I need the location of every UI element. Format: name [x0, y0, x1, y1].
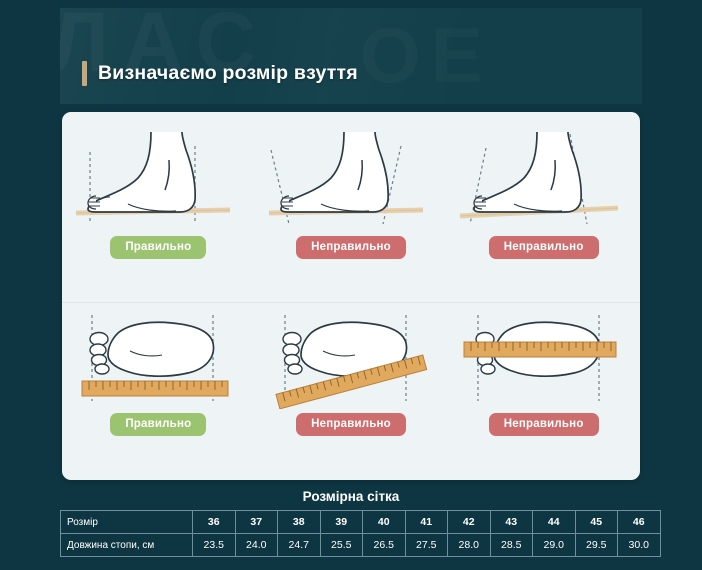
size-table: Розмір 36 37 38 39 40 41 42 43 44 45 46 … [60, 510, 661, 557]
status-badge-incorrect: Неправильно [296, 236, 406, 259]
foot-side-tilted-ruler-icon [454, 124, 634, 232]
sole-ruler-tilted-icon [261, 309, 441, 409]
status-badge-correct: Правильно [110, 413, 206, 436]
guide-cell-sole-ruler-on-top: Неправильно [447, 303, 640, 480]
table-cell: 38 [278, 511, 321, 534]
table-cell: 30.0 [618, 534, 661, 557]
table-cell: 44 [533, 511, 576, 534]
table-cell: 36 [193, 511, 236, 534]
table-cell: 29.5 [575, 534, 618, 557]
table-cell: 27.5 [405, 534, 448, 557]
table-cell: 39 [320, 511, 363, 534]
header-sheen [60, 8, 642, 104]
table-cell: 37 [235, 511, 278, 534]
sole-ruler-on-top-icon [454, 309, 634, 409]
table-cell: 40 [363, 511, 406, 534]
table-cell: 42 [448, 511, 491, 534]
table-cell: 25.5 [320, 534, 363, 557]
table-cell: 24.7 [278, 534, 321, 557]
table-cell: 24.0 [235, 534, 278, 557]
header-band: ЛАС ОЕ Визначаємо розмір взуття [60, 8, 642, 104]
table-cell: 28.5 [490, 534, 533, 557]
title-accent-bar [82, 61, 87, 86]
table-row-foot-length: Довжина стопи, см 23.5 24.0 24.7 25.5 26… [61, 534, 661, 557]
status-badge-correct: Правильно [110, 236, 206, 259]
size-table-title: Розмірна сітка [0, 489, 702, 504]
status-badge-incorrect: Неправильно [489, 236, 599, 259]
guide-card: Правильно Неправильно [62, 112, 640, 480]
guide-cell-sole-tilted: Неправильно [255, 303, 448, 480]
guide-cell-side-slanted: Неправильно [255, 112, 448, 302]
status-badge-incorrect: Неправильно [489, 413, 599, 436]
page-title: Визначаємо розмір взуття [98, 62, 358, 85]
table-cell: 23.5 [193, 534, 236, 557]
row-label-size: Розмір [61, 511, 193, 534]
table-cell: 43 [490, 511, 533, 534]
table-cell: 41 [405, 511, 448, 534]
sole-view-row: Правильно [62, 303, 640, 480]
table-cell: 45 [575, 511, 618, 534]
status-badge-incorrect: Неправильно [296, 413, 406, 436]
table-cell: 29.0 [533, 534, 576, 557]
guide-cell-side-tilted: Неправильно [447, 112, 640, 302]
table-cell: 28.0 [448, 534, 491, 557]
side-view-row: Правильно Неправильно [62, 112, 640, 302]
foot-side-vertical-lines-icon [68, 124, 248, 232]
guide-cell-side-correct: Правильно [62, 112, 255, 302]
table-cell: 46 [618, 511, 661, 534]
sole-ruler-aligned-icon [68, 309, 248, 409]
shoe-size-guide-page: ЛАС ОЕ Визначаємо розмір взуття [0, 0, 702, 570]
foot-side-slanted-lines-icon [261, 124, 441, 232]
table-cell: 26.5 [363, 534, 406, 557]
row-label-foot-length: Довжина стопи, см [61, 534, 193, 557]
table-row-size: Розмір 36 37 38 39 40 41 42 43 44 45 46 [61, 511, 661, 534]
page-title-row: Визначаємо розмір взуття [82, 61, 358, 86]
guide-cell-sole-correct: Правильно [62, 303, 255, 480]
